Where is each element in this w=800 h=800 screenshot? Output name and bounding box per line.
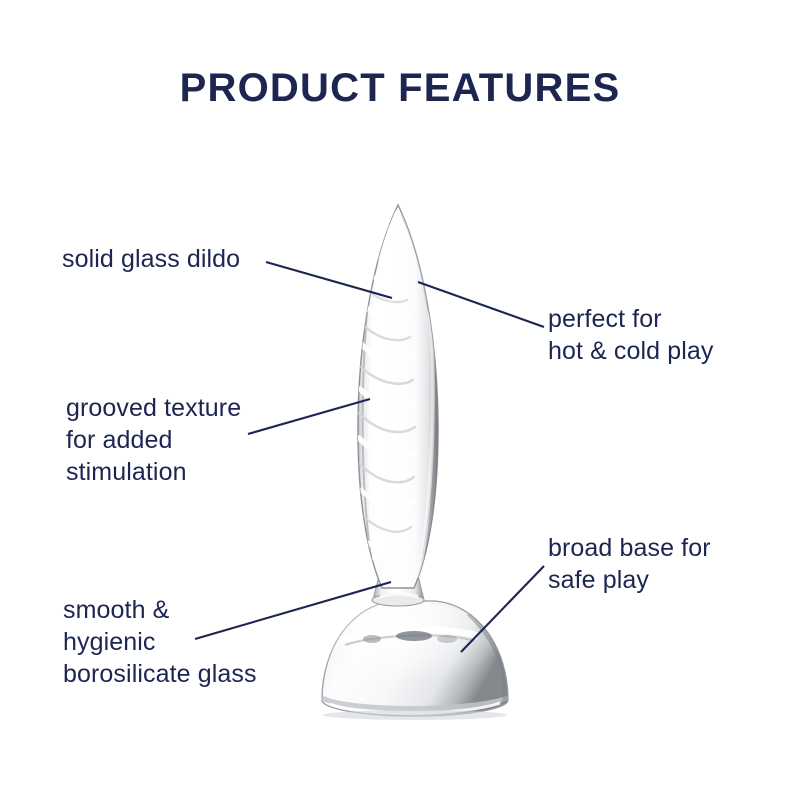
product-base <box>306 601 508 720</box>
callout-line: safe play <box>548 564 711 596</box>
leader-line-solid-glass <box>266 262 392 298</box>
callout-line: for added <box>66 424 241 456</box>
leader-line-grooved-texture <box>248 399 370 434</box>
callout-line: borosilicate glass <box>63 658 257 690</box>
leader-line-broad-base <box>461 566 544 652</box>
callout-smooth-hygienic-glass: smooth & hygienic borosilicate glass <box>63 594 257 690</box>
callout-line: grooved texture <box>66 392 241 424</box>
product-features-diagram: PRODUCT FEATURES <box>0 0 800 800</box>
callout-line: hygienic <box>63 626 257 658</box>
callout-line: broad base for <box>548 532 711 564</box>
groove-texture-arcs <box>359 272 415 554</box>
product-shaft <box>358 205 439 588</box>
callout-grooved-texture: grooved texture for added stimulation <box>66 392 241 488</box>
callout-line: smooth & <box>63 594 257 626</box>
callout-line: hot & cold play <box>548 335 714 367</box>
page-title: PRODUCT FEATURES <box>0 68 800 108</box>
callout-line: perfect for <box>548 303 714 335</box>
callout-line: stimulation <box>66 456 241 488</box>
callout-broad-base: broad base for safe play <box>548 532 711 596</box>
callout-solid-glass-dildo: solid glass dildo <box>62 243 240 275</box>
leader-line-hot-cold <box>418 282 544 327</box>
callout-line: solid glass dildo <box>62 243 240 275</box>
product-neck <box>372 560 424 606</box>
callout-hot-and-cold-play: perfect for hot & cold play <box>548 303 714 367</box>
